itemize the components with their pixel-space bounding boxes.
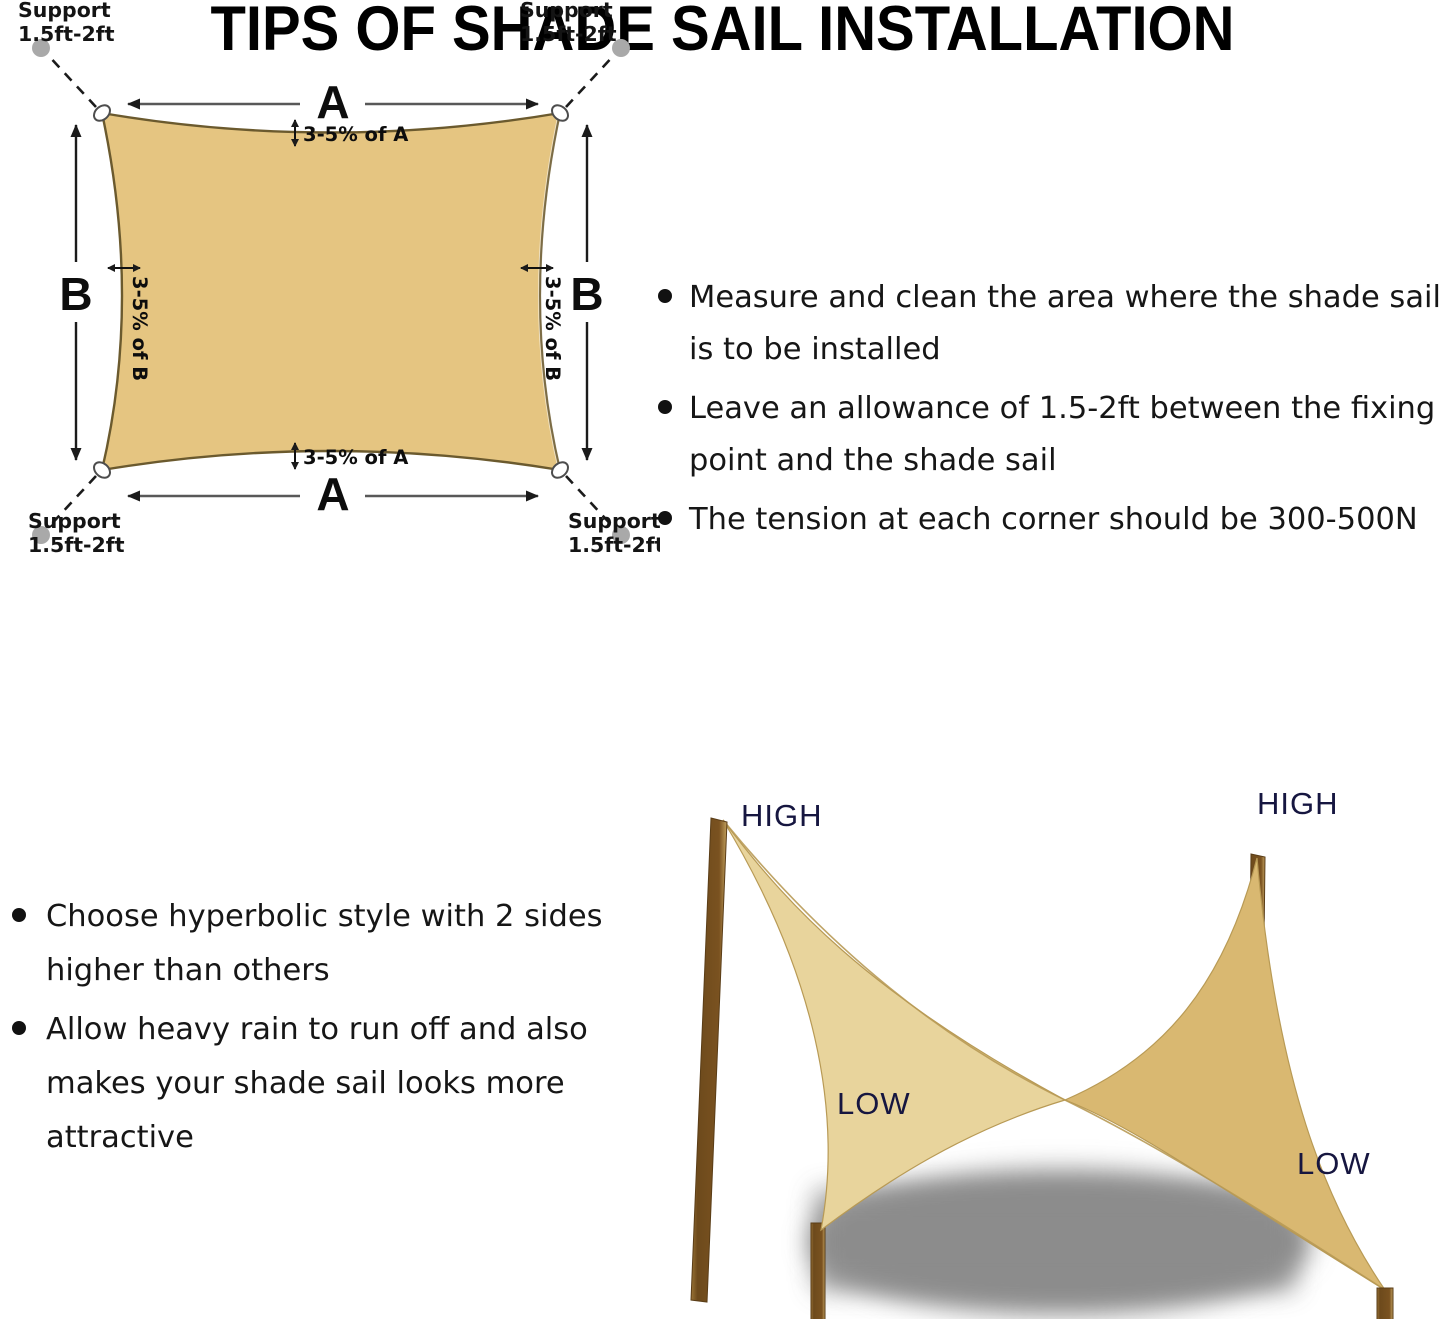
curve-depth-a-bottom: 3-5% of A (295, 443, 408, 469)
label-low-left: LOW (837, 1086, 911, 1121)
dimension-a-bottom: A (128, 468, 538, 520)
list-item-text: Choose hyperbolic style with 2 sides hig… (46, 899, 603, 988)
bullet-dot-icon (12, 1021, 26, 1035)
sail-surface-front (723, 820, 1065, 1230)
list-item: Allow heavy rain to run off and also mak… (0, 1003, 620, 1164)
post-low-left (811, 1223, 825, 1319)
curve-depth-a-top-label: 3-5% of A (303, 123, 408, 146)
support-label-top-left-line1: Support (18, 0, 111, 22)
list-item: Leave an allowance of 1.5-2ft between th… (645, 383, 1445, 488)
support-label-bottom-left-line1: Support (28, 509, 121, 533)
bullet-dot-icon (658, 511, 672, 525)
dimension-b-right: B (570, 125, 603, 460)
dimension-b-right-label: B (570, 268, 603, 320)
hyperbolic-sail-illustration: HIGH HIGH LOW LOW (665, 782, 1445, 1319)
dimension-b-left: B (59, 125, 92, 460)
support-label-top-left-line2: 1.5ft-2ft (18, 22, 115, 46)
dimension-a-bottom-label: A (316, 468, 349, 520)
tips-list-left: Choose hyperbolic style with 2 sides hig… (0, 890, 620, 1170)
bullet-dot-icon (12, 908, 26, 922)
rectangular-sail-diagram: Support 1.5ft-2ft Support 1.5ft-2ft Supp… (0, 0, 660, 570)
bullet-dot-icon (658, 289, 672, 303)
list-item: Choose hyperbolic style with 2 sides hig… (0, 890, 620, 997)
curve-depth-b-left: 3-5% of B (108, 268, 151, 381)
curve-depth-b-left-label: 3-5% of B (128, 276, 151, 381)
tips-list-right: Measure and clean the area where the sha… (645, 272, 1445, 552)
infographic-page: TIPS OF SHADE SAIL INSTALLATION (0, 0, 1445, 1319)
dimension-a-top-label: A (316, 76, 349, 128)
support-label-top-right-line1: Support (520, 0, 613, 22)
dimension-b-left-label: B (59, 268, 92, 320)
curve-depth-a-bottom-label: 3-5% of A (303, 446, 408, 469)
support-label-bottom-left-line2: 1.5ft-2ft (28, 533, 125, 557)
support-label-top-right-line2: 1.5ft-2ft (520, 22, 617, 46)
list-item-text: Leave an allowance of 1.5-2ft between th… (689, 391, 1435, 478)
post-high-left (691, 818, 727, 1302)
list-item-text: The tension at each corner should be 300… (689, 502, 1418, 537)
list-item-text: Measure and clean the area where the sha… (689, 280, 1441, 367)
label-low-right: LOW (1297, 1146, 1371, 1181)
sail-shape (102, 113, 560, 470)
list-item: The tension at each corner should be 300… (645, 494, 1445, 546)
curve-depth-b-right-label: 3-5% of B (541, 276, 564, 381)
list-item-text: Allow heavy rain to run off and also mak… (46, 1012, 588, 1154)
label-high-left: HIGH (741, 798, 823, 833)
label-high-right: HIGH (1257, 786, 1339, 821)
post-low-right (1377, 1288, 1393, 1319)
bullet-dot-icon (658, 400, 672, 414)
curve-depth-a-top: 3-5% of A (295, 120, 408, 146)
list-item: Measure and clean the area where the sha… (645, 272, 1445, 377)
dimension-a-top: A (128, 76, 538, 128)
